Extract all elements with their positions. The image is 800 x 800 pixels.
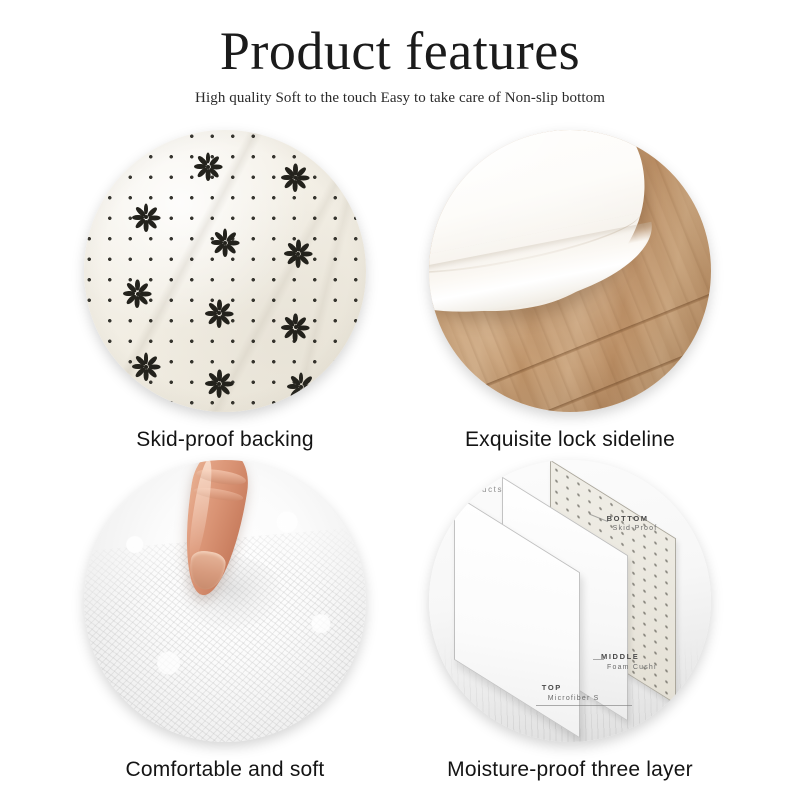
layer-label-top: TOP Microfiber S: [542, 683, 600, 704]
backing-edge-shading: [84, 130, 366, 412]
layer-material: Foam Cushi: [601, 663, 657, 673]
layer-label-bottom: BOTTOM Skid-Proof: [607, 514, 658, 535]
header: Product features High quality Soft to th…: [0, 0, 800, 107]
layer-position: BOTTOM: [607, 514, 658, 525]
page-title: Product features: [0, 0, 800, 81]
photo-vignette: [429, 130, 711, 412]
layer-position: TOP: [542, 683, 600, 694]
layer-position: MIDDLE: [601, 652, 657, 663]
feature-card-comfortable-and-soft: Comfortable and soft: [55, 460, 395, 782]
feature-image-wrap: [84, 460, 366, 742]
feature-caption: Moisture-proof three layer: [400, 742, 740, 782]
layer-label-middle: MIDDLE Foam Cushi: [601, 652, 657, 673]
leader-line-top: [536, 705, 632, 706]
layer-material: Microfiber S: [542, 694, 600, 704]
feature-caption: Exquisite lock sideline: [400, 412, 740, 452]
lock-sideline-photo: [429, 130, 711, 412]
three-layer-diagram-photo: roducts BOTTOM Skid-Proof MIDDLE Foam Cu…: [429, 460, 711, 742]
feature-card-exquisite-lock-sideline: Exquisite lock sideline: [400, 130, 740, 452]
feature-image-wrap: roducts BOTTOM Skid-Proof MIDDLE Foam Cu…: [429, 460, 711, 742]
feature-card-skid-proof-backing: Skid-proof backing: [55, 130, 395, 452]
feature-card-moisture-proof-three-layer: roducts BOTTOM Skid-Proof MIDDLE Foam Cu…: [400, 460, 740, 782]
product-features-page: Product features High quality Soft to th…: [0, 0, 800, 800]
diagram-watermark: roducts: [466, 485, 503, 494]
page-subtitle: High quality Soft to the touch Easy to t…: [0, 81, 800, 107]
layer-material: Skid-Proof: [607, 524, 658, 534]
skid-proof-backing-photo: [84, 130, 366, 412]
comfortable-soft-photo: [84, 460, 366, 742]
feature-image-wrap: [84, 130, 366, 412]
feature-image-wrap: [429, 130, 711, 412]
feature-caption: Comfortable and soft: [55, 742, 395, 782]
feature-caption: Skid-proof backing: [55, 412, 395, 452]
